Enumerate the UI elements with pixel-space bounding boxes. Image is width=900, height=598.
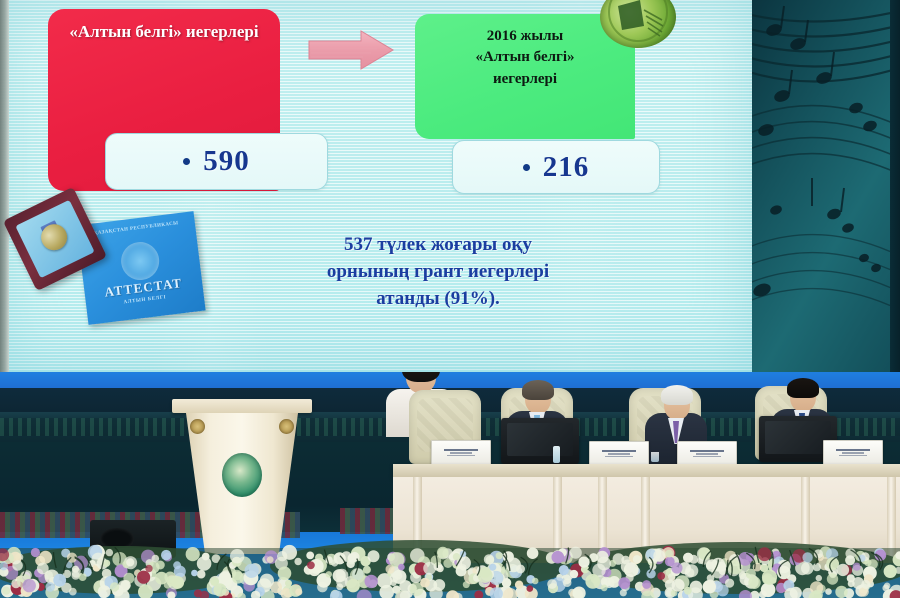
- green-card-value: 216: [543, 151, 590, 184]
- podium-rosette-icon: [190, 419, 205, 434]
- certificate-emblem-icon: [119, 240, 161, 282]
- red-card-value-box: 590: [105, 133, 328, 190]
- green-card-title-line2: «Алтын белгі»: [415, 47, 635, 68]
- flowers-graphic: [0, 522, 900, 598]
- green-card-value-box: 216: [452, 140, 660, 194]
- bullet-dot-icon: [183, 158, 190, 165]
- panel-table-top: [393, 464, 900, 477]
- panel-monitor-1: [501, 418, 579, 464]
- placard-sub-line: [608, 453, 630, 455]
- red-card-value: 590: [203, 145, 250, 178]
- placard-sub-line: [693, 456, 721, 458]
- stage-area: [0, 372, 900, 598]
- placard-name-line: [444, 449, 478, 451]
- placard-sub-line: [605, 456, 633, 458]
- summary-line-2: орнының грант иегерлері: [258, 259, 618, 286]
- certificate-and-medal-photo: ҚАЗАҚСТАН РЕСПУБЛИКАСЫ АТТЕСТАТ АЛТЫН БЕ…: [10, 196, 210, 336]
- gold-medal-icon: [37, 220, 72, 255]
- screenshot-root: «Алтын белгі» иегерлері 590: [0, 0, 900, 598]
- right-arrow-icon: [307, 28, 395, 72]
- name-placard-2: [589, 441, 649, 466]
- panelist-two-hair: [522, 380, 554, 400]
- music-notes-graphic: [752, 0, 900, 372]
- name-placard-1: [431, 440, 491, 465]
- podium-desktop: [172, 399, 312, 413]
- summary-text: 537 түлек жоғары оқу орнының грант иегер…: [258, 232, 618, 313]
- bullet-dot-icon: [523, 164, 530, 171]
- placard-sub-line: [696, 453, 718, 455]
- panel-right-edge: [890, 0, 900, 372]
- screen-left-bezel: [0, 0, 9, 372]
- summary-line-1: 537 түлек жоғары оқу: [258, 232, 618, 259]
- placard-sub-line: [842, 452, 864, 454]
- green-card-title-line1: 2016 жылы: [415, 26, 635, 47]
- projection-screen: «Алтын белгі» иегерлері 590: [0, 0, 752, 372]
- panelist-four-hair: [787, 378, 819, 398]
- water-glass: [651, 452, 659, 462]
- green-info-card: 2016 жылы «Алтын белгі» иегерлері: [415, 14, 635, 139]
- podium-rosette-icon: [279, 419, 294, 434]
- music-notes-backdrop-panel: [752, 0, 900, 372]
- attestat-certificate: ҚАЗАҚСТАН РЕСПУБЛИКАСЫ АТТЕСТАТ АЛТЫН БЕ…: [76, 211, 205, 325]
- placard-name-line: [836, 449, 870, 451]
- green-card-title-line3: иегерлері: [415, 69, 635, 90]
- placard-sub-line: [450, 452, 472, 454]
- placard-sub-line: [447, 455, 475, 457]
- placard-name-line: [602, 450, 636, 452]
- water-bottle: [553, 446, 560, 463]
- floral-arrangement: [0, 522, 900, 598]
- summary-line-3: атанды (91%).: [258, 286, 618, 313]
- placard-name-line: [690, 450, 724, 452]
- name-placard-3: [677, 441, 737, 466]
- placard-sub-line: [839, 455, 867, 457]
- panelist-three-hair: [661, 385, 693, 405]
- kazakhstan-emblem-icon: [222, 453, 262, 497]
- medal-case-interior: [15, 200, 94, 278]
- name-placard-4: [823, 440, 883, 465]
- red-card-title: «Алтын белгі» иегерлері: [48, 21, 280, 43]
- green-card-title: 2016 жылы «Алтын белгі» иегерлері: [415, 26, 635, 90]
